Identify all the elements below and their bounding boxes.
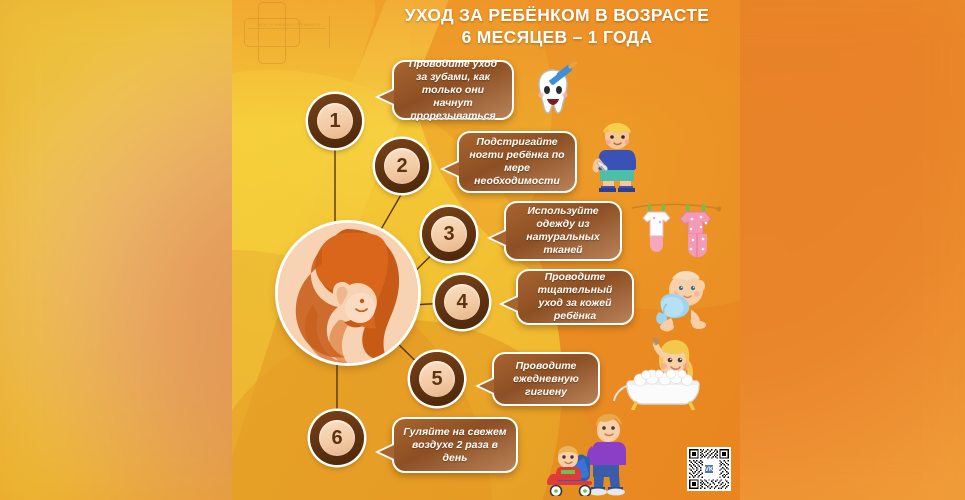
step-6-bubble-tail (375, 443, 394, 461)
step-number-4[interactable]: 4 (435, 275, 489, 329)
step-5-bubble[interactable]: Проводите ежедневную гигиену (492, 352, 600, 406)
step-number-3[interactable]: 3 (422, 207, 476, 261)
step-number-5[interactable]: 5 (410, 352, 464, 406)
step-number-2[interactable]: 2 (375, 139, 429, 193)
mother-and-baby-icon (278, 223, 418, 363)
step-4-bubble[interactable]: Проводите тщательный уход за кожей ребён… (516, 269, 634, 325)
step-5-text: Проводите ежедневную гигиену (503, 360, 589, 399)
step-3-text: Используйте одежду из натуральных тканей (515, 205, 611, 257)
step-6-text: Гуляйте на свежем воздухе 2 раза в день (403, 426, 507, 465)
step-number-1[interactable]: 1 (308, 94, 362, 148)
step-number-6[interactable]: 6 (310, 411, 364, 465)
step-number-3-label: 3 (431, 216, 467, 252)
step-1-illustration (522, 62, 584, 124)
girl-in-bathtub-icon (610, 336, 706, 410)
step-3-bubble-tail (487, 229, 506, 247)
step-number-5-label: 5 (419, 361, 455, 397)
qr-code-graphic: VK (689, 449, 729, 489)
svg-text:VK: VK (705, 466, 714, 473)
step-1-bubble[interactable]: Проводите уход за зубами, как только они… (392, 60, 514, 120)
step-2-text: Подстригайте ногти ребёнка по мере необх… (468, 136, 566, 188)
step-5-illustration (610, 336, 706, 410)
crawling-baby-icon (645, 266, 723, 332)
tooth-with-toothbrush-icon (522, 62, 584, 124)
baby-clothes-on-line-icon (630, 196, 722, 268)
step-4-bubble-tail (499, 295, 518, 313)
step-number-6-label: 6 (319, 420, 355, 456)
step-2-bubble-tail (440, 160, 459, 178)
vk-qr-code[interactable]: VK (687, 447, 731, 491)
step-number-4-label: 4 (444, 284, 480, 320)
step-4-text: Проводите тщательный уход за кожей ребён… (527, 271, 623, 323)
step-6-bubble[interactable]: Гуляйте на свежем воздухе 2 раза в день (392, 417, 518, 473)
step-1-bubble-tail (375, 88, 394, 106)
step-number-2-label: 2 (384, 148, 420, 184)
step-6-illustration (528, 412, 638, 496)
step-1-text: Проводите уход за зубами, как только они… (403, 58, 503, 123)
mother-with-stroller-icon (528, 412, 638, 496)
step-3-illustration (630, 196, 722, 268)
step-3-bubble[interactable]: Используйте одежду из натуральных тканей (504, 201, 622, 261)
step-2-illustration (587, 122, 645, 194)
step-number-1-label: 1 (317, 103, 353, 139)
central-hub-mother-baby (278, 223, 418, 363)
image-viewer-stage: Центр Общественного УХОД ЗА РЕБЁНКОМ В В… (0, 0, 965, 500)
step-4-illustration (645, 266, 723, 332)
infographic-poster: Центр Общественного УХОД ЗА РЕБЁНКОМ В В… (232, 0, 740, 500)
step-5-bubble-tail (475, 377, 494, 395)
step-2-bubble[interactable]: Подстригайте ногти ребёнка по мере необх… (457, 131, 577, 193)
boy-with-nail-clipper-icon (587, 122, 645, 194)
